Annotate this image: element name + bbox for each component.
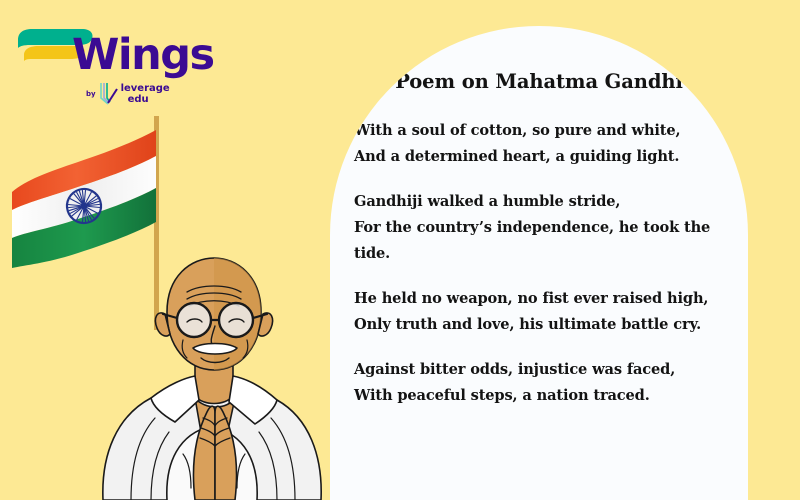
wings-logo[interactable]: Wings by leverage edu [16, 20, 206, 105]
logo-by-label: by [86, 90, 96, 98]
gandhi-neck [195, 366, 233, 404]
poem-stanza: Against bitter odds, injustice was faced… [354, 357, 732, 409]
mahatma-gandhi-illustration [95, 248, 330, 500]
poem-stanza: With a soul of cotton, so pure and white… [354, 118, 732, 170]
poem-line: With peaceful steps, a nation traced. [354, 383, 732, 409]
poem-line: He held no weapon, no fist ever raised h… [354, 286, 732, 312]
poem-line: Gandhiji walked a humble stride, [354, 189, 732, 215]
leverage-line: leverage [121, 83, 170, 94]
poem-stanza: Gandhiji walked a humble stride, For the… [354, 189, 732, 267]
logo-byline: by leverage edu [86, 82, 170, 108]
poem-line: Only truth and love, his ultimate battle… [354, 312, 732, 338]
poem-body: With a soul of cotton, so pure and white… [354, 118, 732, 428]
logo-wordmark: Wings [72, 34, 214, 77]
edu-line: edu [121, 94, 170, 105]
poem-line: With a soul of cotton, so pure and white… [354, 118, 732, 144]
poem-line: tide. [354, 241, 732, 267]
poem-line: And a determined heart, a guiding light. [354, 144, 732, 170]
leverage-edu-wordmark: leverage edu [121, 83, 170, 105]
poem-panel: Poem on Mahatma Gandhi With a soul of co… [330, 26, 748, 500]
poster-canvas: Wings by leverage edu [0, 0, 800, 500]
gandhi-moustache [193, 344, 237, 355]
poem-line: Against bitter odds, injustice was faced… [354, 357, 732, 383]
poem-title: Poem on Mahatma Gandhi [330, 70, 748, 93]
leverage-checkmark-icon [99, 82, 119, 106]
poem-stanza: He held no weapon, no fist ever raised h… [354, 286, 732, 338]
poem-line: For the country’s independence, he took … [354, 215, 732, 241]
